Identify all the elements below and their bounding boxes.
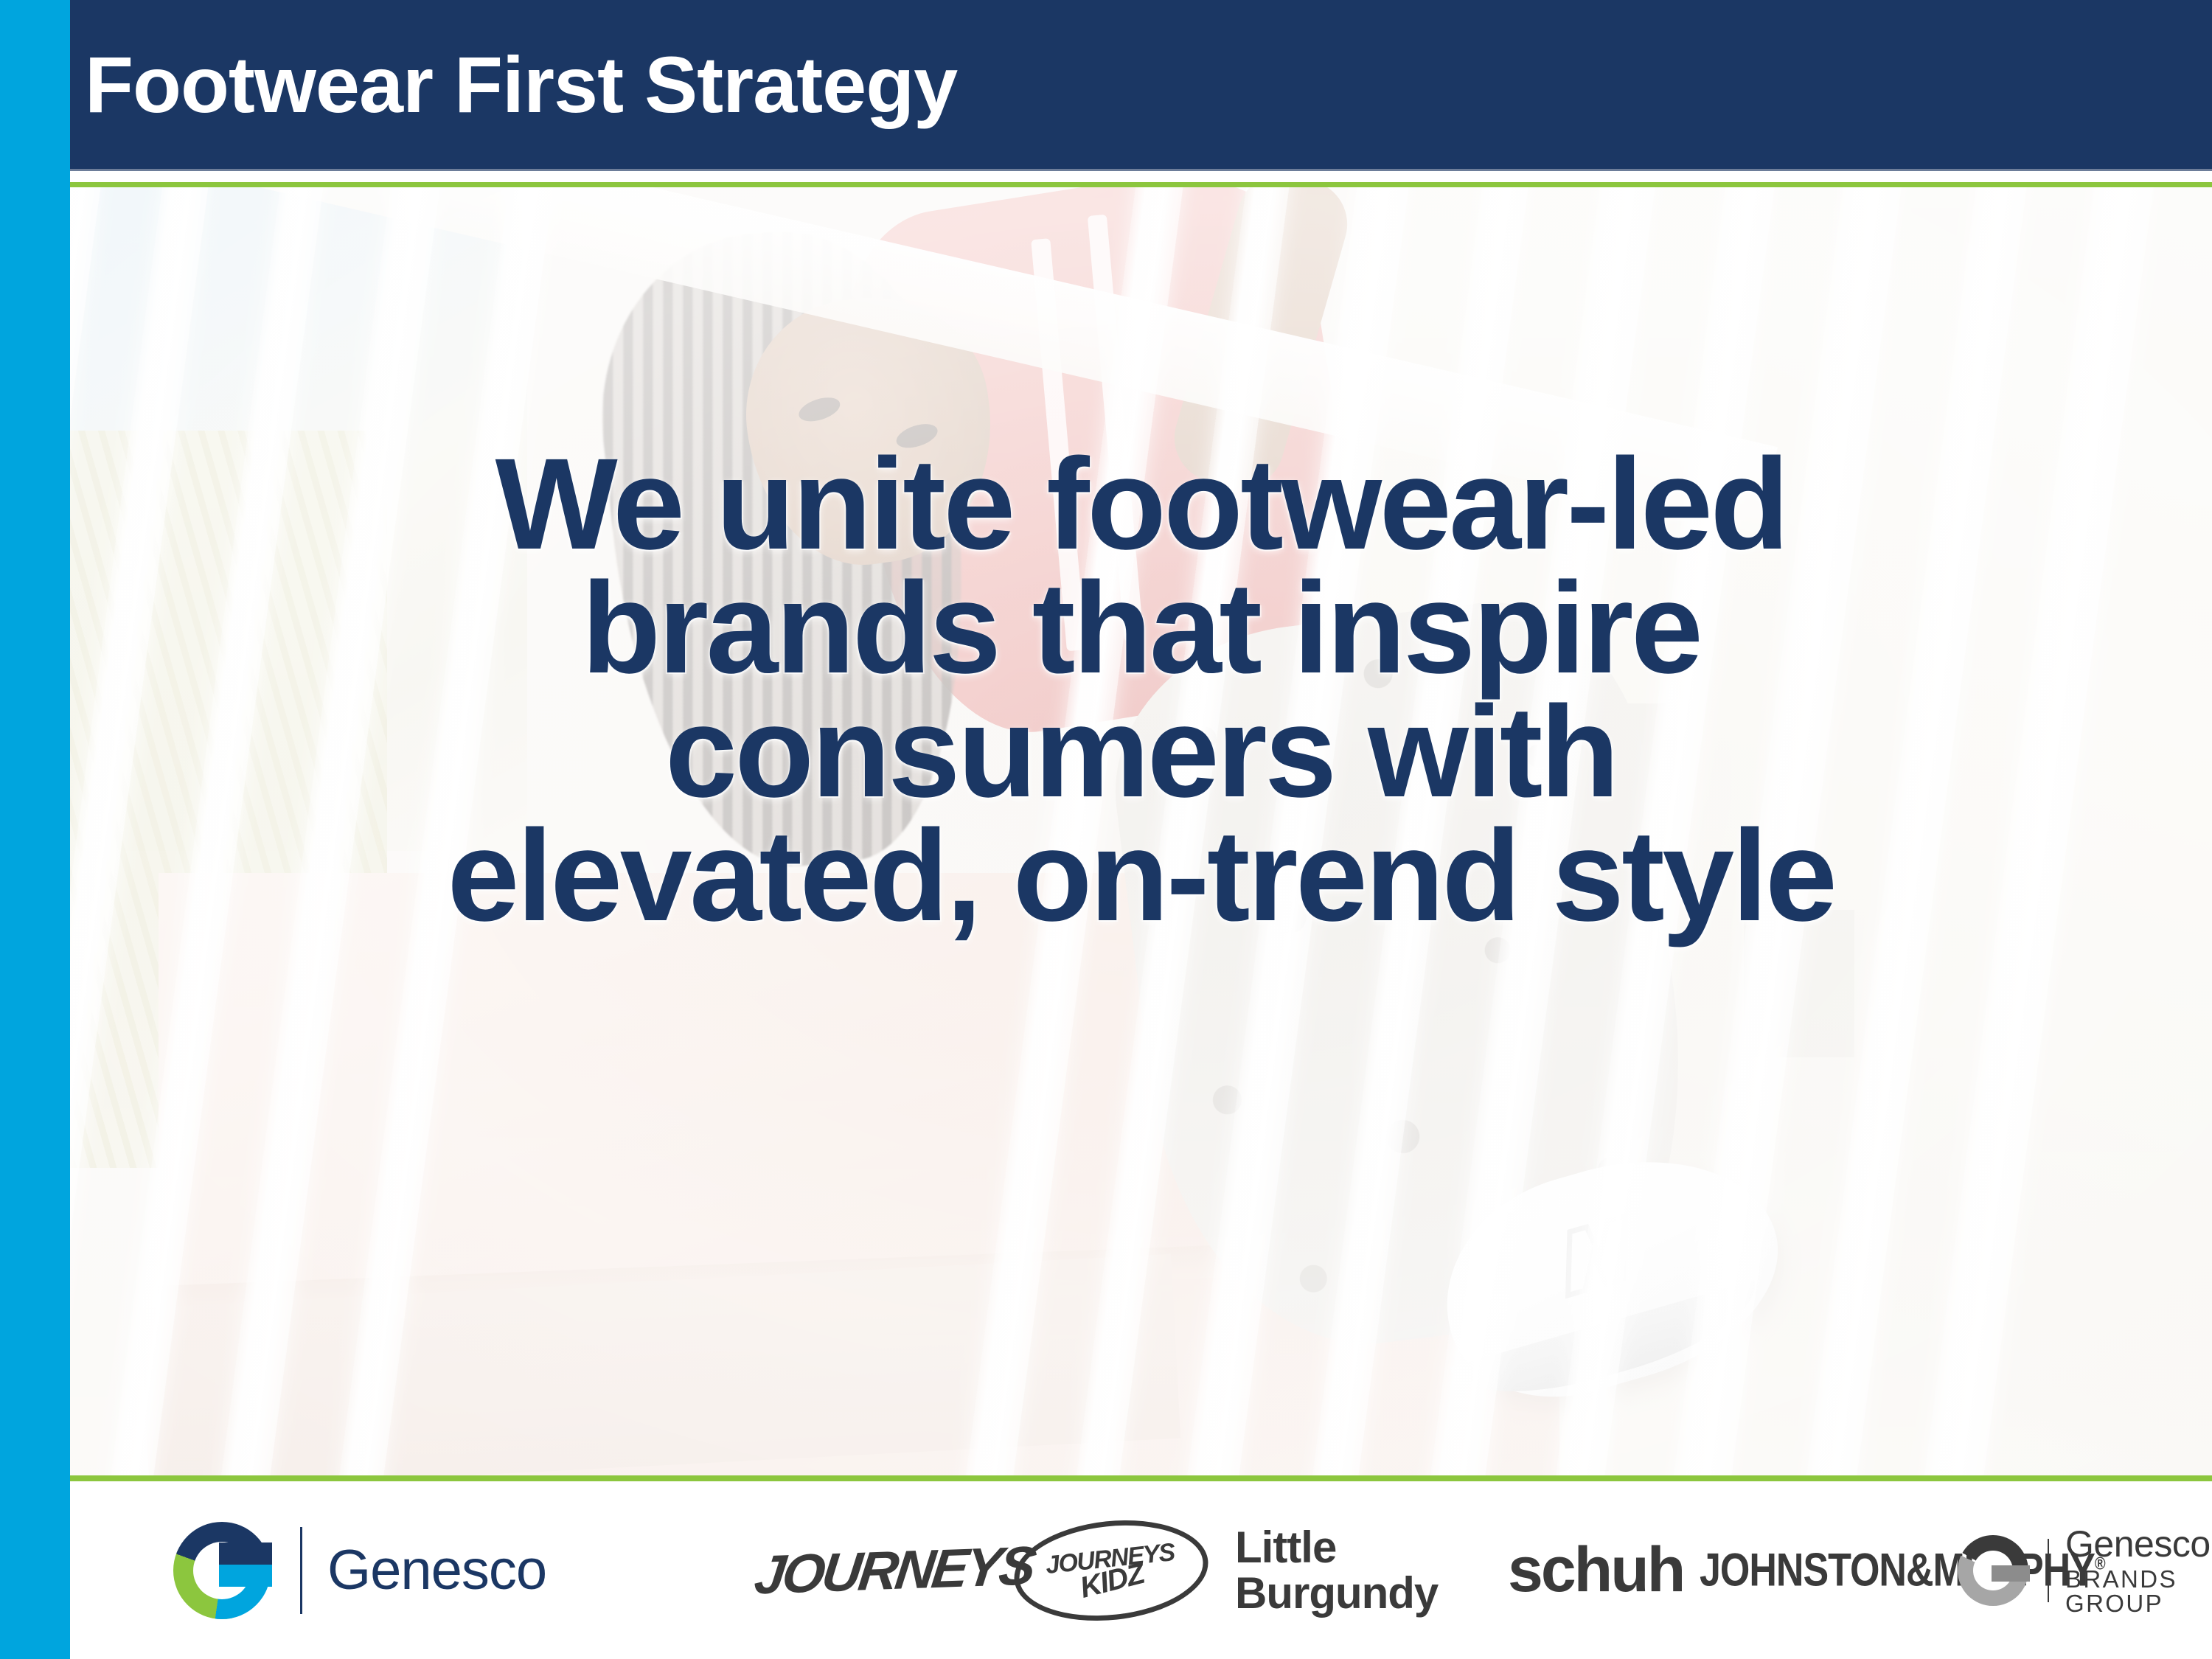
left-accent-bar: [0, 0, 70, 1659]
little-burgundy-line-1: Little: [1235, 1525, 1438, 1571]
genesco-wordmark: Genesco: [327, 1538, 546, 1602]
logo-divider: [300, 1527, 302, 1614]
logo-genesco: Genesco: [173, 1481, 645, 1659]
green-rule-bottom: [70, 1475, 2212, 1481]
logo-divider: [2048, 1539, 2049, 1602]
logo-little-burgundy: Little Burgundy: [1235, 1481, 1471, 1659]
footer-logo-strip: Genesco Journeys Journeys Kidz Little Bu…: [70, 1481, 2212, 1659]
photo-eye: [894, 420, 941, 453]
page-title: Footwear First Strategy: [85, 16, 957, 153]
journeys-kidz-oval-icon: Journeys Kidz: [1009, 1511, 1214, 1630]
logo-genesco-brands-group: Genesco BRANDS GROUP: [1958, 1481, 2212, 1659]
journeys-wordmark: Journeys: [751, 1534, 1037, 1606]
genesco-brands-g-icon: [1958, 1535, 2028, 1606]
green-rule-top: [70, 182, 2212, 187]
genesco-brands-line-1: Genesco: [2065, 1526, 2212, 1562]
genesco-brands-line-2: BRANDS GROUP: [2065, 1567, 2212, 1615]
logo-journeys-kidz: Journeys Kidz: [1014, 1481, 1213, 1659]
slide-root: Footwear First Strategy: [0, 0, 2212, 1659]
schuh-wordmark: schuh: [1508, 1534, 1683, 1607]
photo-eye: [796, 393, 843, 426]
hero-photo: [70, 187, 2212, 1475]
header-divider-rule: [70, 169, 2212, 171]
logo-journeys: Journeys: [756, 1481, 977, 1659]
logo-schuh: schuh: [1508, 1481, 1714, 1659]
genesco-g-icon: [173, 1522, 271, 1619]
little-burgundy-line-2: Burgundy: [1235, 1571, 1438, 1616]
